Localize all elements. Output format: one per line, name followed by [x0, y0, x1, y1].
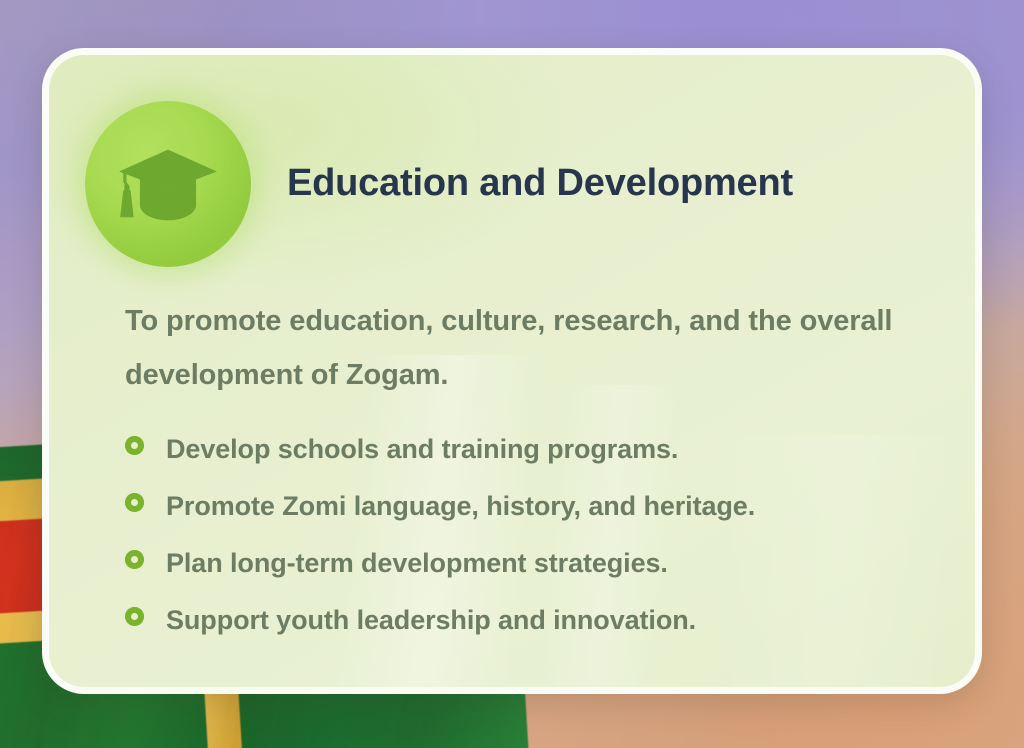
list-item-label: Promote Zomi language, history, and heri… [166, 493, 755, 520]
page-title: Education and Development [287, 163, 793, 205]
list-item: Plan long-term development strategies. [125, 550, 925, 577]
list-item-label: Develop schools and training programs. [166, 436, 678, 463]
bullet-ring-icon [125, 493, 144, 512]
bullet-ring-icon [125, 550, 144, 569]
list-item: Develop schools and training programs. [125, 436, 925, 463]
bullet-ring-icon [125, 607, 144, 626]
list-item-label: Plan long-term development strategies. [166, 550, 668, 577]
card-bullet-list: Develop schools and training programs. P… [125, 436, 925, 634]
graduation-cap-icon [85, 101, 251, 267]
bullet-ring-icon [125, 436, 144, 455]
list-item: Support youth leadership and innovation. [125, 607, 925, 634]
card-description: To promote education, culture, research,… [125, 295, 925, 402]
list-item: Promote Zomi language, history, and heri… [125, 493, 925, 520]
card-header: Education and Development [85, 99, 925, 269]
education-and-development-card: Education and Development To promote edu… [42, 48, 982, 694]
list-item-label: Support youth leadership and innovation. [166, 607, 696, 634]
